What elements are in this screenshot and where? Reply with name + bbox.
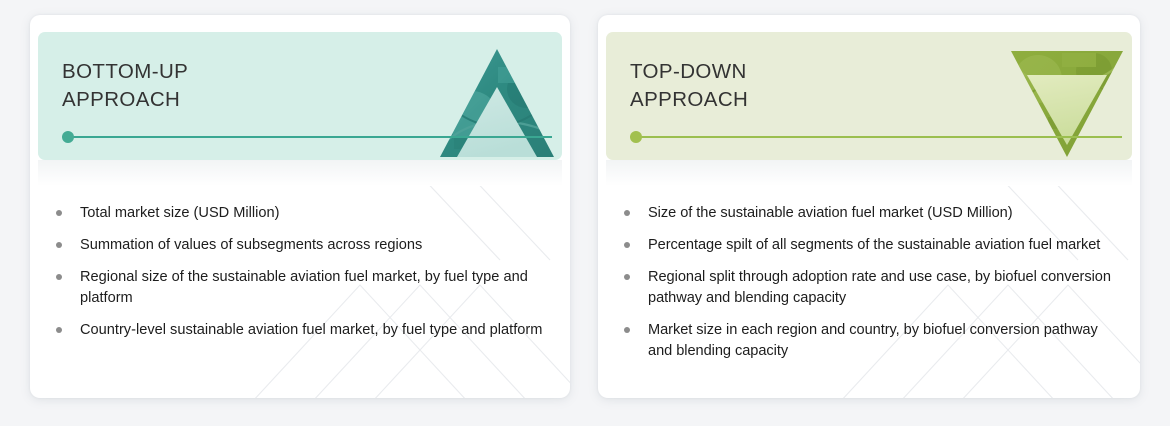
list-item: Total market size (USD Million) (56, 203, 552, 224)
list-item: Percentage spilt of all segments of the … (624, 235, 1122, 256)
list-item-text: Percentage spilt of all segments of the … (648, 235, 1100, 256)
card-title-top-down: TOP-DOWN APPROACH (630, 58, 748, 114)
list-item-text: Size of the sustainable aviation fuel ma… (648, 203, 1013, 224)
bullet-dot-icon (56, 274, 62, 280)
card-header-bottom-up: BOTTOM-UP APPROACH (38, 32, 562, 160)
list-item: Regional split through adoption rate and… (624, 267, 1122, 309)
card-top-down-approach: TOP-DOWN APPROACH Size of the sustainabl… (598, 15, 1140, 398)
list-item: Market size in each region and country, … (624, 320, 1122, 362)
card-bottom-up-approach: BOTTOM-UP APPROACH Total market size (US… (30, 15, 570, 398)
bullet-dot-icon (624, 327, 630, 333)
header-fade-left (38, 160, 562, 186)
list-item: Regional size of the sustainable aviatio… (56, 267, 552, 309)
accent-line (636, 136, 1122, 138)
bullet-dot-icon (624, 210, 630, 216)
list-item: Country-level sustainable aviation fuel … (56, 320, 552, 341)
list-item: Size of the sustainable aviation fuel ma… (624, 203, 1122, 224)
accent-dot (630, 131, 642, 143)
card-title-bottom-up: BOTTOM-UP APPROACH (62, 58, 188, 114)
list-item-text: Country-level sustainable aviation fuel … (80, 320, 542, 341)
bullet-list-bottom-up: Total market size (USD Million) Summatio… (56, 203, 552, 352)
approach-comparison-board: BOTTOM-UP APPROACH Total market size (US… (0, 0, 1170, 426)
accent-line (68, 136, 552, 138)
bullet-dot-icon (56, 327, 62, 333)
list-item-text: Total market size (USD Million) (80, 203, 280, 224)
header-fade-right (606, 160, 1132, 186)
card-header-top-down: TOP-DOWN APPROACH (606, 32, 1132, 160)
accent-dot (62, 131, 74, 143)
bullet-dot-icon (56, 210, 62, 216)
list-item-text: Regional split through adoption rate and… (648, 267, 1122, 309)
bullet-dot-icon (624, 274, 630, 280)
bullet-dot-icon (624, 242, 630, 248)
list-item: Summation of values of subsegments acros… (56, 235, 552, 256)
bullet-dot-icon (56, 242, 62, 248)
list-item-text: Summation of values of subsegments acros… (80, 235, 422, 256)
list-item-text: Market size in each region and country, … (648, 320, 1122, 362)
bullet-list-top-down: Size of the sustainable aviation fuel ma… (624, 203, 1122, 373)
accent-rule-bottom-up (62, 131, 552, 143)
list-item-text: Regional size of the sustainable aviatio… (80, 267, 552, 309)
accent-rule-top-down (630, 131, 1122, 143)
